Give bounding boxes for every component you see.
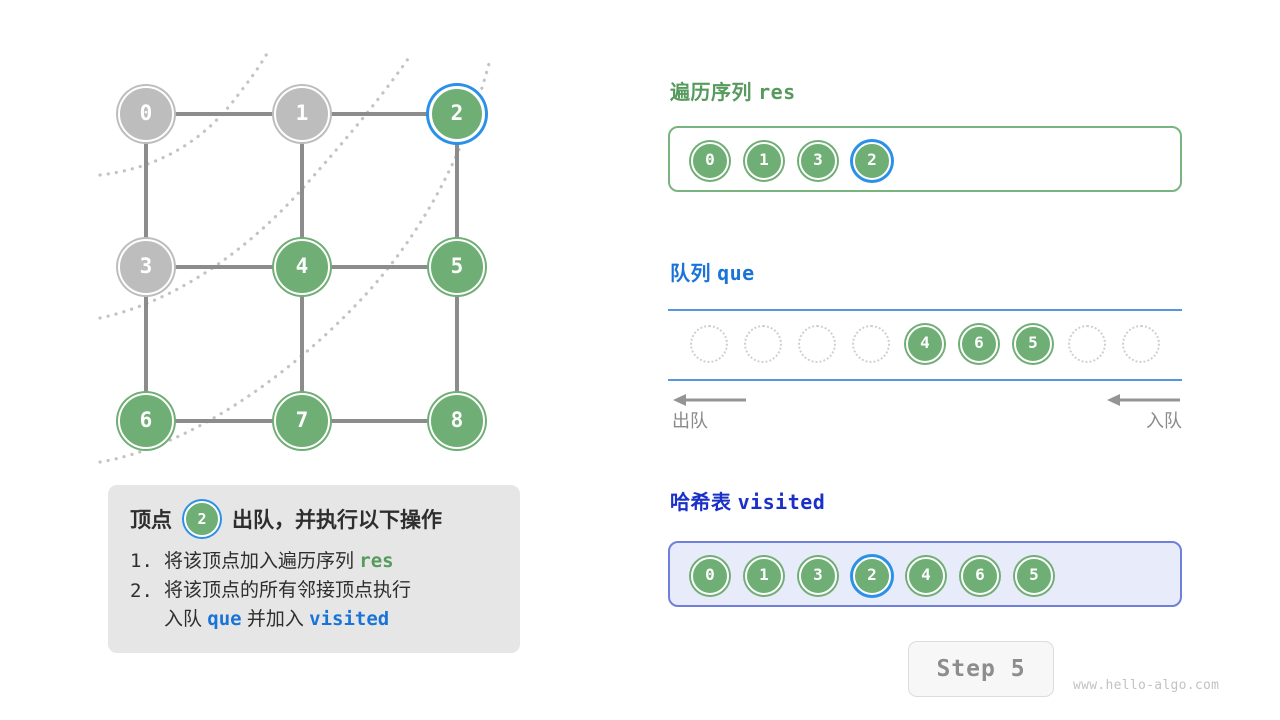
visited-slot-2[interactable]: 3 — [799, 557, 837, 595]
res-slot-1[interactable]: 1 — [745, 142, 783, 180]
caption-text-run: 并加入 — [242, 609, 310, 630]
visited-slot-label: 6 — [975, 567, 985, 583]
graph-node-label: 4 — [296, 256, 309, 277]
graph-node-label: 2 — [451, 103, 464, 124]
que-slot-3[interactable] — [852, 325, 890, 363]
que-slot-2[interactable] — [798, 325, 836, 363]
que-title-cn: 队列 — [670, 263, 711, 285]
res-title-cn: 遍历序列 — [670, 82, 752, 104]
res-slot-3[interactable]: 2 — [853, 142, 891, 180]
caption-item-index: 2. — [130, 577, 164, 635]
res-slot-0[interactable]: 0 — [691, 142, 729, 180]
visited-slot-label: 1 — [759, 567, 769, 583]
visited-title-cn: 哈希表 — [670, 492, 732, 514]
visited-slot-5[interactable]: 6 — [961, 557, 999, 595]
caption-headline: 顶点 2 出队，并执行以下操作 — [130, 501, 502, 537]
que-slot-4[interactable]: 4 — [906, 325, 944, 363]
res-title-mono: res — [758, 80, 796, 104]
que-slot-7[interactable] — [1068, 325, 1106, 363]
graph-node-1[interactable]: 1 — [274, 86, 330, 142]
visited-slot-1[interactable]: 1 — [745, 557, 783, 595]
res-section-title: 遍历序列 res — [670, 76, 796, 105]
que-slot-label: 4 — [920, 335, 930, 351]
caption-text-run: 入队 — [164, 609, 207, 630]
que-container: 465 出队 入队 — [668, 295, 1182, 455]
caption-text-run: que — [207, 608, 241, 630]
visited-slot-0[interactable]: 0 — [691, 557, 729, 595]
graph-node-label: 1 — [296, 103, 309, 124]
que-slot-1[interactable] — [744, 325, 782, 363]
visited-slot-4[interactable]: 4 — [907, 557, 945, 595]
caption-head-prefix: 顶点 — [130, 504, 172, 534]
graph-node-label: 0 — [140, 103, 153, 124]
caption-text-run: visited — [309, 608, 389, 630]
caption-text-run: 将该顶点的所有邻接顶点执行 — [164, 580, 411, 601]
graph-node-label: 6 — [140, 410, 153, 431]
enqueue-arrow-icon — [1106, 393, 1182, 407]
caption-item-text: 将该顶点加入遍历序列 res — [164, 547, 502, 577]
visited-section-title: 哈希表 visited — [670, 486, 825, 515]
dequeue-arrow-icon — [672, 393, 748, 407]
caption-item: 2.将该顶点的所有邻接顶点执行入队 que 并加入 visited — [130, 577, 502, 635]
visited-title-mono: visited — [738, 490, 826, 514]
graph-node-7[interactable]: 7 — [274, 393, 330, 449]
graph-node-6[interactable]: 6 — [118, 393, 174, 449]
que-slot-label: 6 — [974, 335, 984, 351]
visited-slot-label: 4 — [921, 567, 931, 583]
res-slot-label: 1 — [759, 152, 769, 168]
graph-node-2[interactable]: 2 — [429, 86, 485, 142]
que-slots: 465 — [668, 309, 1182, 379]
graph-node-label: 5 — [451, 256, 464, 277]
caption-item-list: 1.将该顶点加入遍历序列 res2.将该顶点的所有邻接顶点执行入队 que 并加… — [130, 547, 502, 635]
graph-node-0[interactable]: 0 — [118, 86, 174, 142]
graph-node-label: 7 — [296, 410, 309, 431]
right-column: 遍历序列 res 0132 队列 que 465 出队 入队 哈希表 visit… — [668, 0, 1182, 720]
res-container: 0132 — [668, 126, 1182, 192]
step-badge: Step 5 — [908, 641, 1054, 697]
graph-node-4[interactable]: 4 — [274, 239, 330, 295]
que-section-title: 队列 que — [670, 257, 755, 286]
res-slot-2[interactable]: 3 — [799, 142, 837, 180]
caption-item-text: 将该顶点的所有邻接顶点执行入队 que 并加入 visited — [164, 577, 502, 635]
caption-text-run: res — [359, 550, 393, 572]
watermark: www.hello-algo.com — [1073, 678, 1219, 693]
caption-vertex-chip: 2 — [184, 501, 220, 537]
res-slot-label: 0 — [705, 152, 715, 168]
dequeue-label: 出队 — [672, 407, 708, 433]
graph-node-5[interactable]: 5 — [429, 239, 485, 295]
caption-item: 1.将该顶点加入遍历序列 res — [130, 547, 502, 577]
graph-node-label: 3 — [140, 256, 153, 277]
que-title-mono: que — [717, 261, 755, 285]
graph-node-label: 8 — [451, 410, 464, 431]
visited-slot-3[interactable]: 2 — [853, 557, 891, 595]
caption-vertex-chip-label: 2 — [184, 501, 220, 537]
que-slot-6[interactable]: 5 — [1014, 325, 1052, 363]
graph-node-3[interactable]: 3 — [118, 239, 174, 295]
caption-box: 顶点 2 出队，并执行以下操作 1.将该顶点加入遍历序列 res2.将该顶点的所… — [108, 485, 520, 653]
que-slot-8[interactable] — [1122, 325, 1160, 363]
graph-node-8[interactable]: 8 — [429, 393, 485, 449]
visited-container: 0132465 — [668, 541, 1182, 607]
que-slot-label: 5 — [1028, 335, 1038, 351]
enqueue-label: 入队 — [1146, 407, 1182, 433]
res-slot-label: 3 — [813, 152, 823, 168]
graph-panel: 012345678 — [0, 0, 620, 480]
caption-head-suffix: 出队，并执行以下操作 — [232, 504, 442, 534]
visited-slot-6[interactable]: 5 — [1015, 557, 1053, 595]
visited-slot-label: 5 — [1029, 567, 1039, 583]
visited-slot-label: 0 — [705, 567, 715, 583]
que-rail-bottom — [668, 379, 1182, 381]
que-slot-0[interactable] — [690, 325, 728, 363]
que-slot-5[interactable]: 6 — [960, 325, 998, 363]
visited-slot-label: 2 — [867, 567, 877, 583]
caption-text-run: 将该顶点加入遍历序列 — [164, 551, 359, 572]
visited-slot-label: 3 — [813, 567, 823, 583]
res-slot-label: 2 — [867, 152, 877, 168]
caption-item-index: 1. — [130, 547, 164, 577]
